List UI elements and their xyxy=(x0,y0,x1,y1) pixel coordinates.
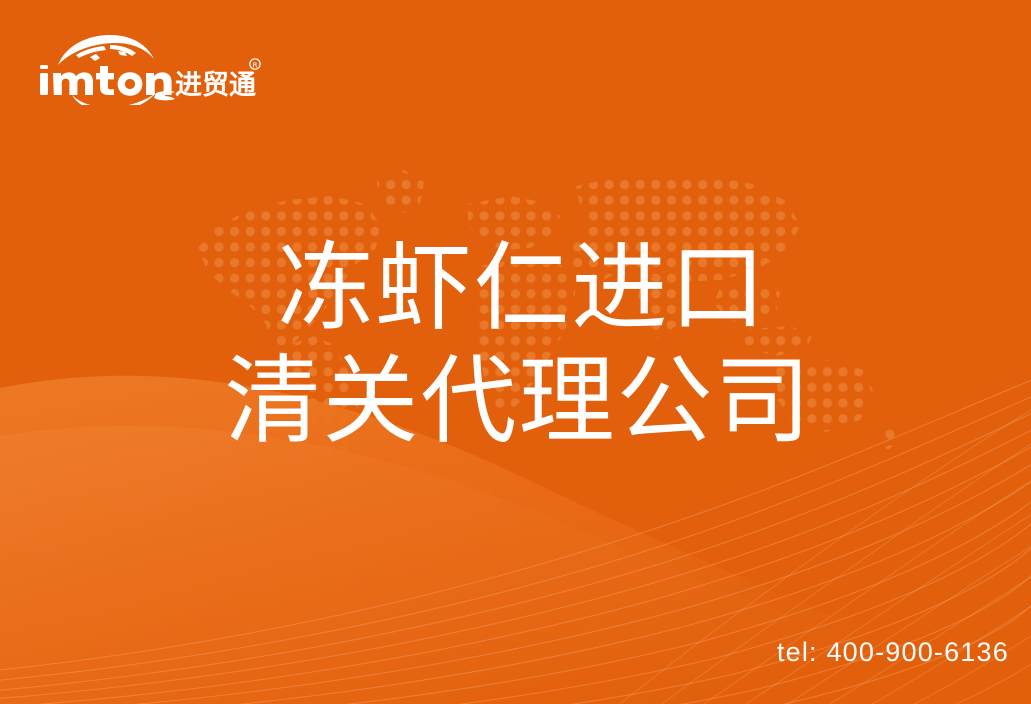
svg-text:R: R xyxy=(253,61,258,69)
brand-logo[interactable]: 进贸通 R xyxy=(36,33,266,105)
svg-text:进贸通: 进贸通 xyxy=(175,70,256,101)
headline: 冻虾仁进口 清关代理公司 xyxy=(0,232,1031,458)
telephone-label: tel: 400-900-6136 xyxy=(777,637,1009,668)
imton-logo-mark: 进贸通 R xyxy=(36,33,266,105)
promo-banner: 进贸通 R 冻虾仁进口 清关代理公司 tel: 400-900-6136 xyxy=(0,0,1031,704)
headline-line-2: 清关代理公司 xyxy=(0,345,1031,458)
headline-line-1: 冻虾仁进口 xyxy=(0,232,1031,345)
